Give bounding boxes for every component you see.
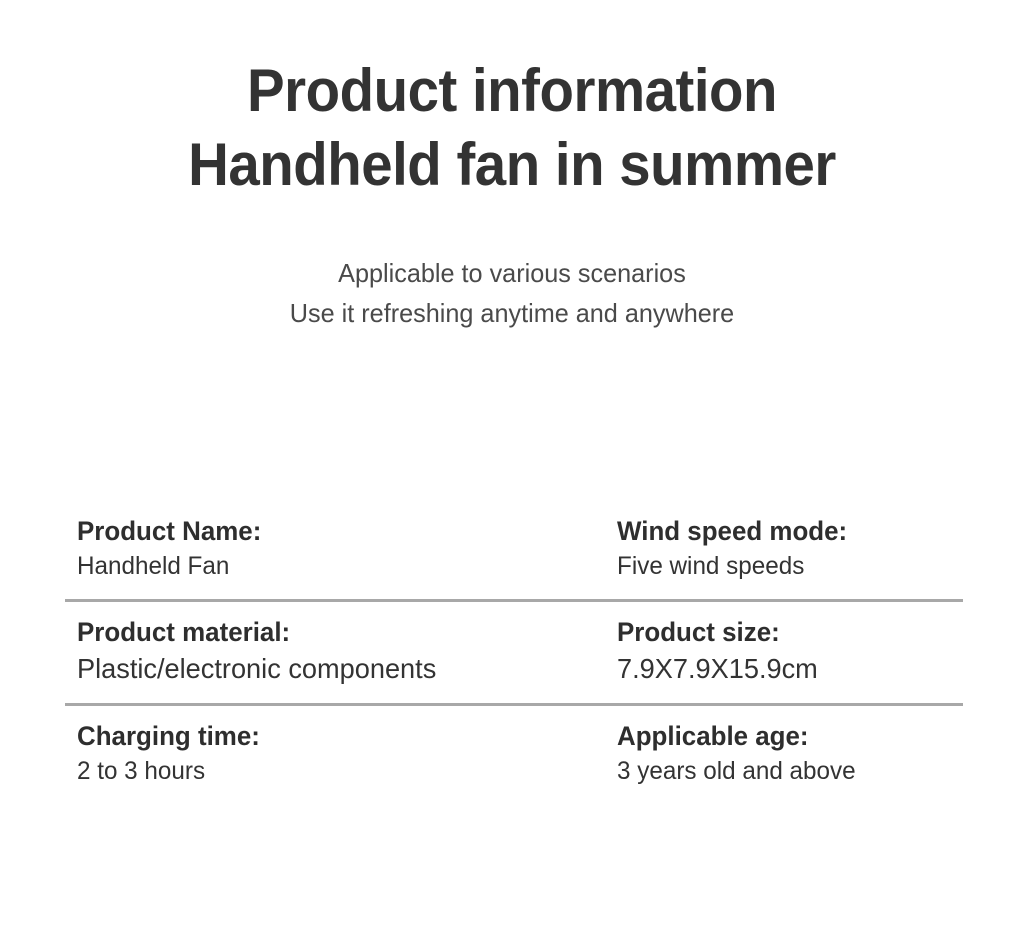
spec-row: Product material: Plastic/electronic com… [65, 602, 963, 706]
spec-value: Handheld Fan [77, 549, 601, 583]
spec-value: 3 years old and above [617, 754, 953, 788]
spec-label: Wind speed mode: [617, 513, 949, 549]
spec-label: Charging time: [77, 718, 595, 754]
spec-cell-product-material: Product material: Plastic/electronic com… [65, 614, 617, 688]
spec-label: Product Name: [77, 513, 595, 549]
spec-value: Five wind speeds [617, 549, 953, 583]
page-subtitle-line-1: Applicable to various scenarios [15, 253, 1008, 293]
spec-value: Plastic/electronic components [77, 650, 601, 688]
spec-value: 2 to 3 hours [77, 754, 601, 788]
product-information-page: Product information Handheld fan in summ… [0, 0, 1024, 933]
spec-label: Product material: [77, 614, 595, 650]
spec-row: Product Name: Handheld Fan Wind speed mo… [65, 513, 963, 602]
spec-cell-wind-speed-mode: Wind speed mode: Five wind speeds [617, 513, 963, 583]
spec-label: Product size: [617, 614, 949, 650]
page-subtitle: Applicable to various scenarios Use it r… [0, 253, 1024, 333]
spec-cell-applicable-age: Applicable age: 3 years old and above [617, 718, 963, 788]
spec-cell-product-name: Product Name: Handheld Fan [65, 513, 617, 583]
spec-value: 7.9X7.9X15.9cm [617, 650, 953, 688]
spec-cell-charging-time: Charging time: 2 to 3 hours [65, 718, 617, 788]
spec-row: Charging time: 2 to 3 hours Applicable a… [65, 706, 963, 788]
page-title-line-1: Product information [31, 54, 994, 128]
page-subtitle-line-2: Use it refreshing anytime and anywhere [15, 293, 1008, 333]
spec-label: Applicable age: [617, 718, 949, 754]
page-header: Product information Handheld fan in summ… [0, 54, 1024, 202]
specification-table: Product Name: Handheld Fan Wind speed mo… [65, 513, 963, 788]
page-title-line-2: Handheld fan in summer [31, 128, 994, 202]
spec-cell-product-size: Product size: 7.9X7.9X15.9cm [617, 614, 963, 688]
